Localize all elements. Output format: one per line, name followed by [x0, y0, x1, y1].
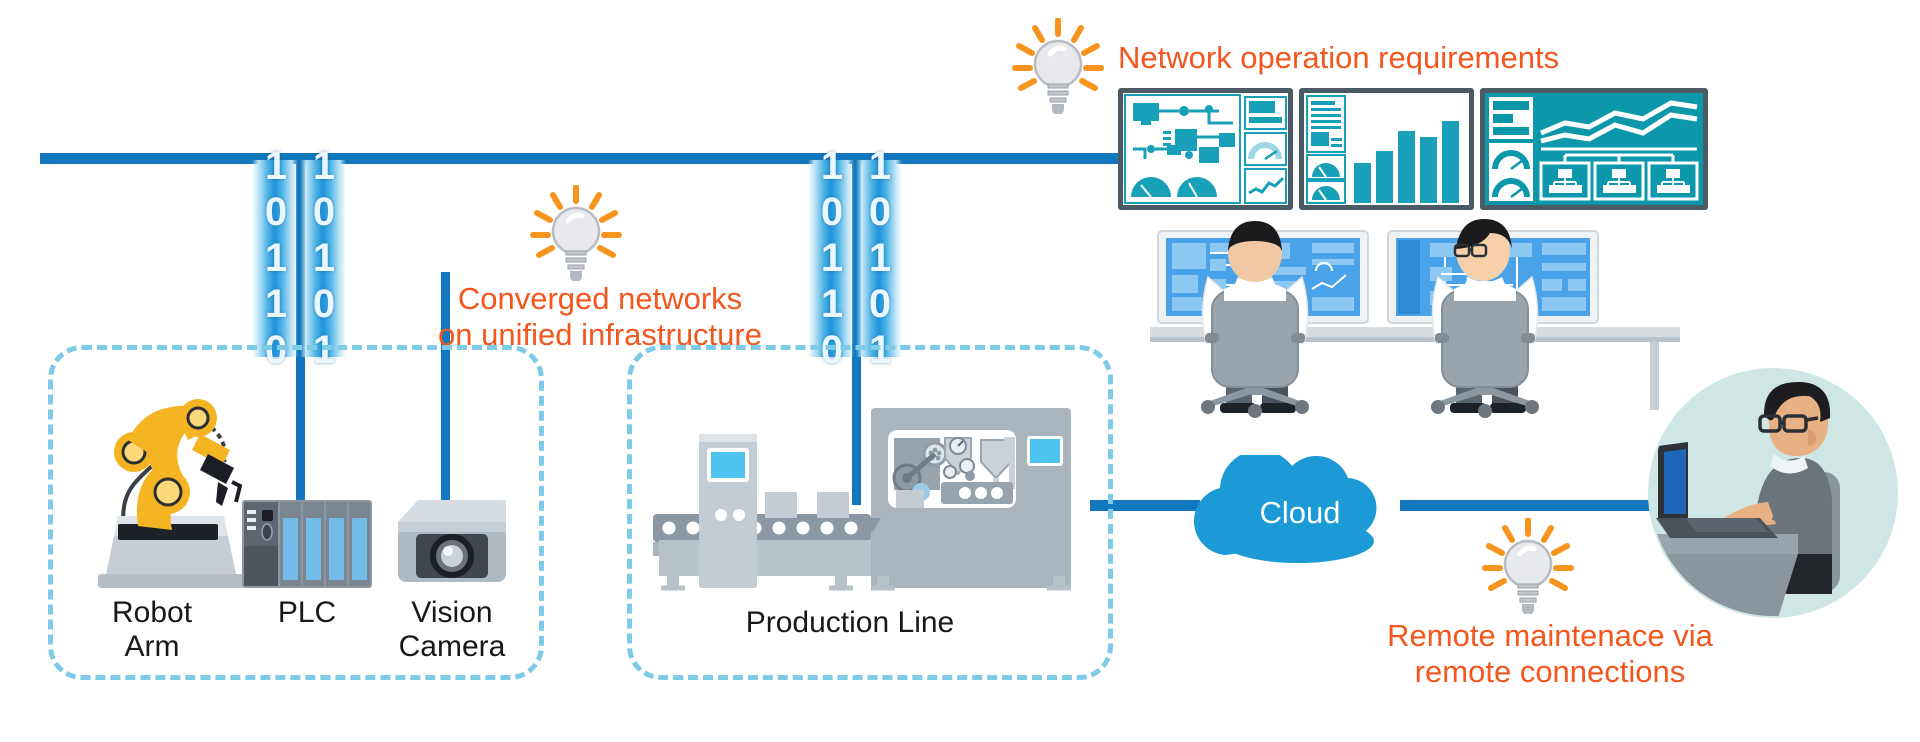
lightbulb-icon	[1010, 18, 1106, 114]
lightbulb-icon	[528, 185, 624, 281]
callout-network-operation-label: Network operation requirements	[1118, 40, 1618, 76]
production-line-label: Production Line	[650, 606, 1050, 640]
control-room-operators	[1150, 205, 1680, 420]
stream-left-bits-a: 10110	[252, 160, 298, 357]
data-stream-right: 10110 10101	[808, 160, 904, 357]
vision-camera-label: Vision Camera	[362, 596, 542, 663]
network-backbone-bus	[40, 153, 1140, 164]
plc-label: PLC	[237, 596, 377, 630]
cloud-label: Cloud	[1180, 495, 1420, 531]
control-room-video-wall	[1118, 88, 1708, 213]
data-stream-left: 10110 10101	[252, 160, 348, 357]
cloud-node[interactable]: Cloud	[1180, 455, 1420, 565]
remote-worker-scene[interactable]	[1648, 368, 1898, 618]
vision-camera[interactable]	[394, 496, 510, 588]
stream-left-bits-b: 10101	[300, 160, 346, 357]
cloud-link-right	[1400, 500, 1690, 511]
diagram-canvas: 10110 10101 10110 10101	[0, 0, 1920, 742]
lightbulb-icon	[1480, 518, 1576, 614]
production-line[interactable]	[645, 400, 1105, 600]
robot-arm-label: Robot Arm	[62, 596, 242, 663]
wall-panel-2	[1299, 88, 1474, 210]
plc[interactable]	[242, 500, 372, 588]
wall-panel-1	[1118, 88, 1293, 210]
callout-remote-maintenance	[1480, 518, 1600, 628]
wall-panel-3	[1480, 88, 1708, 210]
stream-right-bits-a: 10110	[808, 160, 854, 357]
stream-right-bits-b: 10101	[856, 160, 902, 357]
callout-remote-maintenance-label: Remote maintenace via remote connections	[1370, 618, 1730, 690]
callout-converged-networks: Converged networks on unified infrastruc…	[430, 185, 770, 325]
callout-converged-networks-label: Converged networks on unified infrastruc…	[420, 281, 780, 353]
